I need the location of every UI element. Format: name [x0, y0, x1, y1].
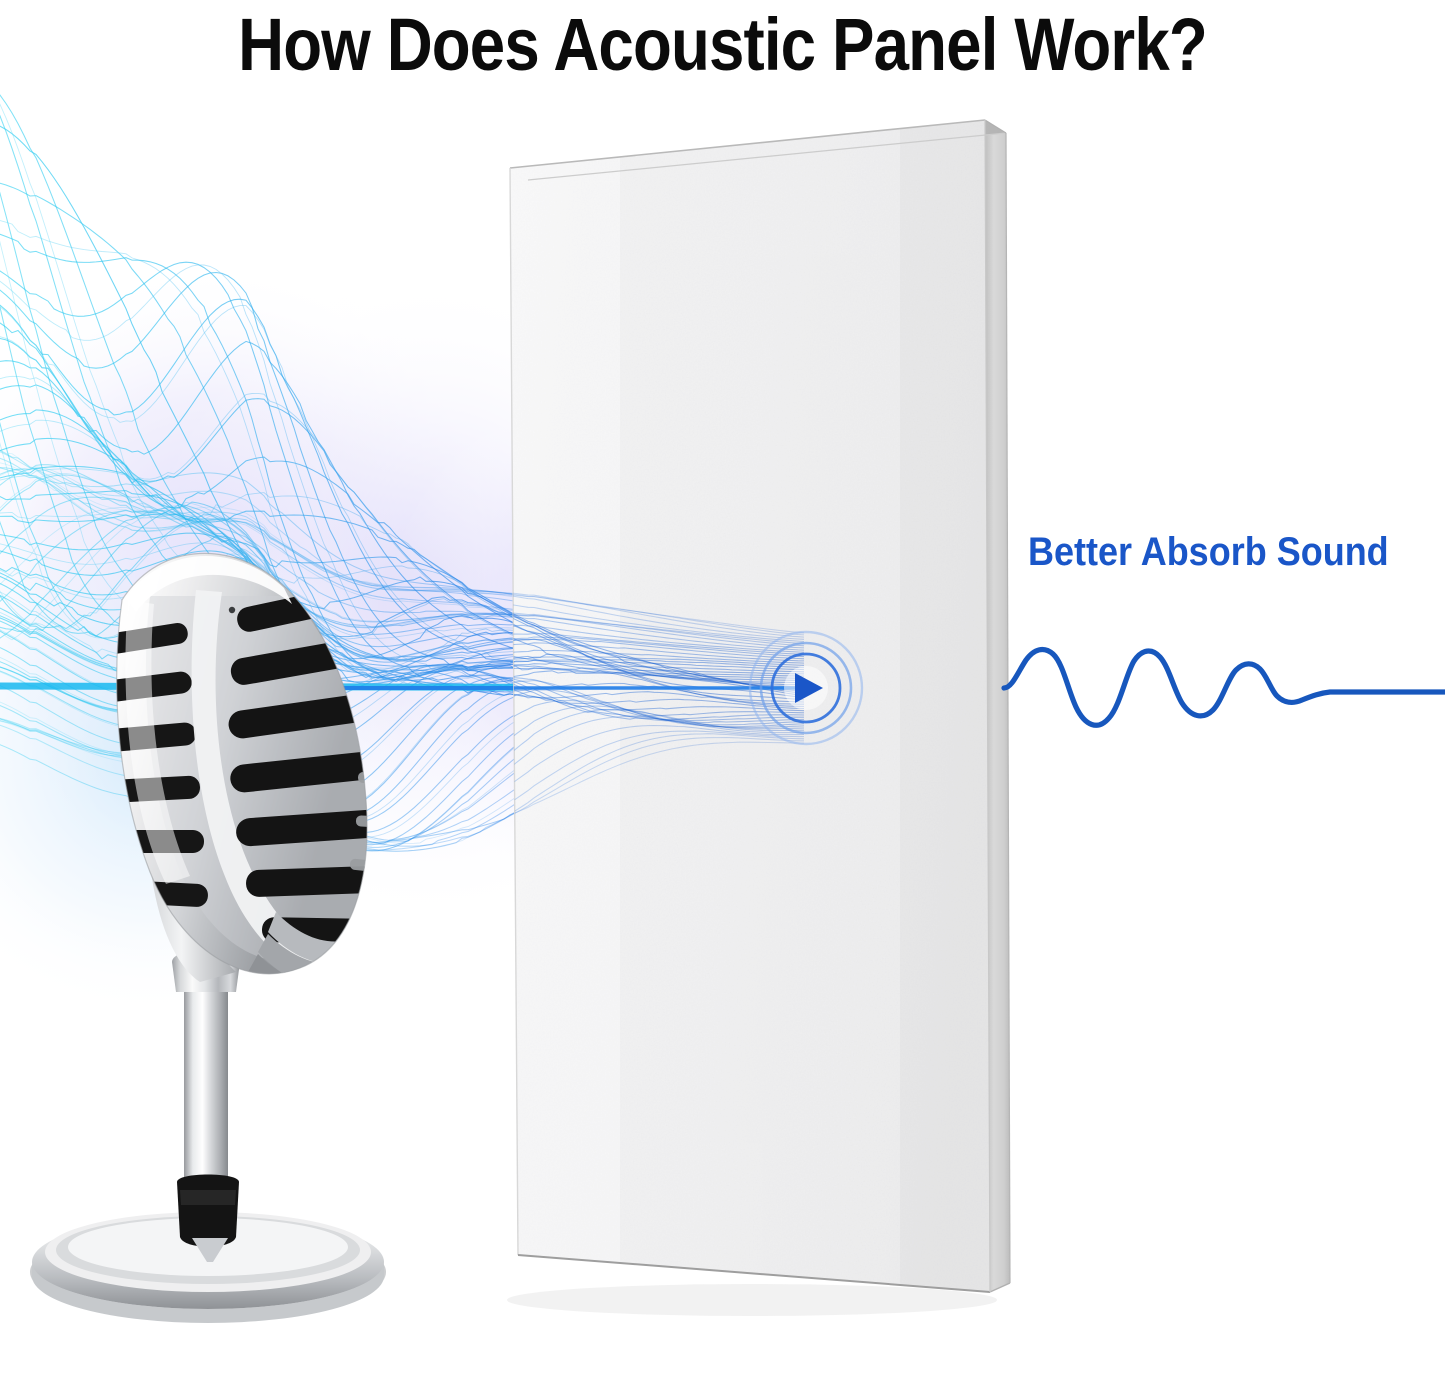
mic-stand [30, 950, 386, 1323]
better-absorb-sound-label: Better Absorb Sound [1028, 528, 1388, 576]
microphone [0, 0, 1445, 1389]
mic-grille [95, 556, 388, 1006]
infographic-canvas: How Does Acoustic Panel Work? [0, 0, 1445, 1389]
mic-head [95, 553, 388, 1006]
